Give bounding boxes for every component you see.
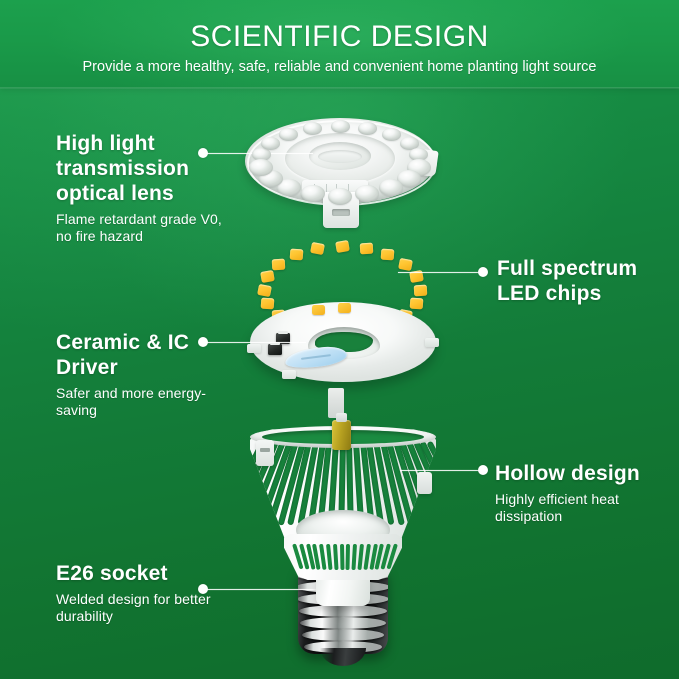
callout-subtitle: Highly efficient heat dissipation xyxy=(495,491,675,525)
lens-dome xyxy=(358,122,377,135)
heatsink-clip-left xyxy=(256,440,274,466)
header-banner: SCIENTIFIC DESIGN Provide a more healthy… xyxy=(0,0,679,88)
led-chip xyxy=(335,239,350,252)
led-chip xyxy=(260,270,275,283)
lens-center-dome xyxy=(309,142,371,170)
heatsink-lower-skirt xyxy=(284,534,402,580)
led-chip xyxy=(310,242,325,255)
callout-led-chips: Full spectrum LED chips xyxy=(497,256,667,306)
leader-stroke xyxy=(398,272,480,273)
part-hollow-heatsink xyxy=(250,414,436,604)
callout-ceramic-ic-driver: Ceramic & IC Driver Safer and more energ… xyxy=(56,330,231,419)
callout-title: E26 socket xyxy=(56,561,236,586)
lens-dome xyxy=(328,188,352,205)
part-ceramic-ic-driver xyxy=(250,302,436,406)
driver-tab-right xyxy=(425,338,439,347)
callout-e26-socket: E26 socket Welded design for better dura… xyxy=(56,561,236,625)
leader-line-hollow-design xyxy=(400,465,488,476)
led-chip xyxy=(359,242,373,254)
skirt-fin-slot xyxy=(340,544,345,570)
heatsink-clip-right xyxy=(417,472,432,494)
led-chip xyxy=(413,284,427,296)
callout-title: Ceramic & IC Driver xyxy=(56,330,231,380)
leader-dot-icon xyxy=(478,465,488,475)
driver-led-chip-1 xyxy=(312,305,325,315)
page-subtitle: Provide a more healthy, safe, reliable a… xyxy=(0,59,679,75)
led-chip xyxy=(257,283,272,296)
leader-stroke xyxy=(400,470,480,471)
part-optical-lens xyxy=(245,104,435,229)
blue-component xyxy=(284,344,348,370)
led-chip xyxy=(272,258,286,270)
skirt-fin-slot xyxy=(346,544,351,570)
lens-dome xyxy=(279,128,298,141)
skirt-fin-slot xyxy=(326,544,333,570)
callout-subtitle: Welded design for better durability xyxy=(56,591,236,625)
callout-title: High light transmission optical lens xyxy=(56,131,231,206)
skirt-fin-slot xyxy=(352,544,358,570)
lens-dome xyxy=(303,122,322,135)
callout-optical-lens: High light transmission optical lens Fla… xyxy=(56,131,231,245)
led-chip xyxy=(381,248,395,260)
infographic-page: SCIENTIFIC DESIGN Provide a more healthy… xyxy=(0,0,679,679)
callout-subtitle: Safer and more energy-saving xyxy=(56,385,231,419)
socket-thread-ring xyxy=(300,617,385,629)
gold-connector xyxy=(332,420,351,450)
lens-dome xyxy=(301,185,325,202)
lens-dome xyxy=(382,128,401,141)
driver-led-chip-2 xyxy=(338,303,351,313)
driver-tab-bottom xyxy=(282,370,296,379)
leader-dot-icon xyxy=(478,267,488,277)
page-title: SCIENTIFIC DESIGN xyxy=(0,20,679,54)
callout-title: Full spectrum LED chips xyxy=(497,256,667,306)
lens-dome xyxy=(249,159,273,176)
lens-dome xyxy=(331,120,350,133)
callout-hollow-design: Hollow design Highly efficient heat diss… xyxy=(495,461,675,525)
leader-line-led-chips xyxy=(398,267,488,278)
callout-title: Hollow design xyxy=(495,461,675,486)
socket-thread-ring xyxy=(302,629,384,641)
socket-thread-ring xyxy=(299,605,387,617)
skirt-fin-slot xyxy=(333,544,339,570)
led-chip xyxy=(289,248,303,260)
socket-tip xyxy=(320,648,366,666)
callout-subtitle: Flame retardant grade V0, no fire hazard xyxy=(56,211,231,245)
